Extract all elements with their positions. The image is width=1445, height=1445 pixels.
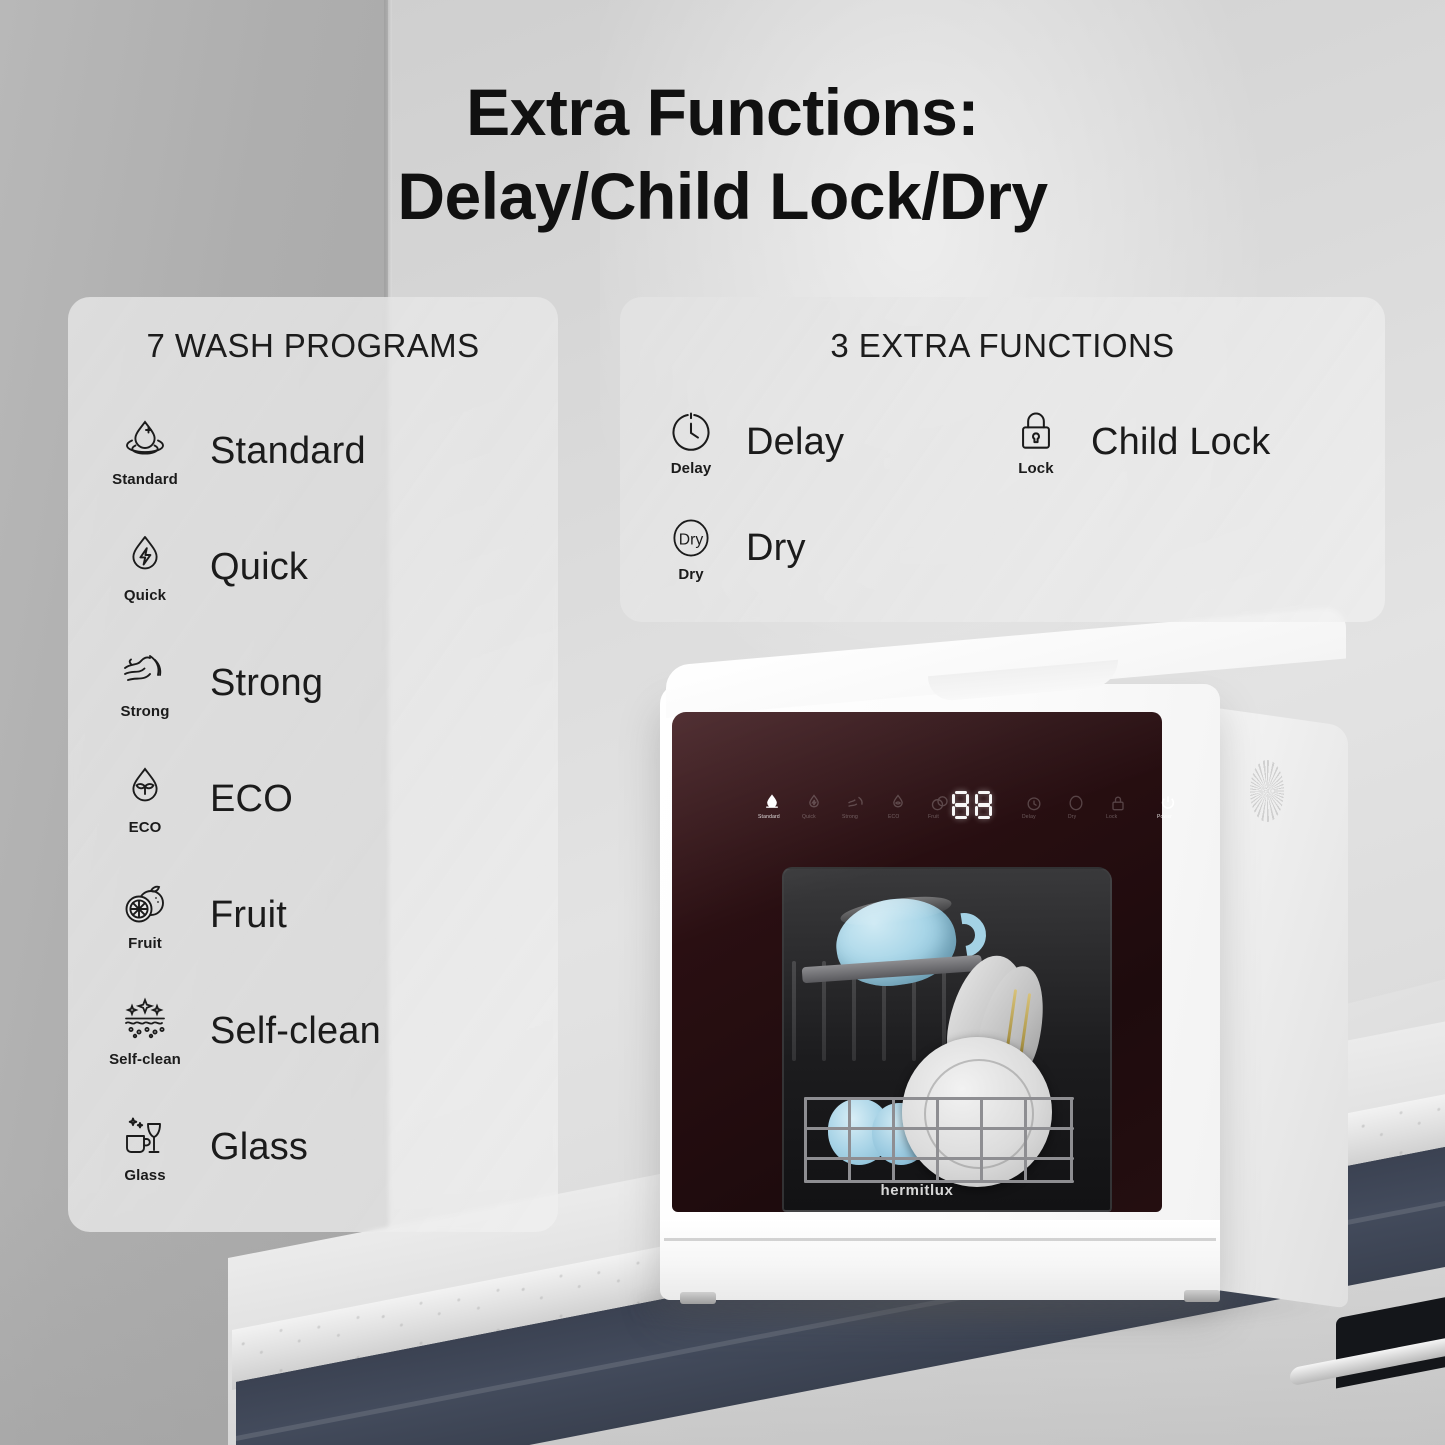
dry-label: Dry (746, 527, 806, 570)
extra-functions-panel: 3 EXTRA FUNCTIONS Delay Delay (620, 297, 1385, 622)
extra-functions-list: Delay Delay Lock Child Lock (620, 389, 1385, 601)
glass-icon-group: Glass (102, 1110, 188, 1184)
sparkle-surface-icon (119, 994, 171, 1046)
delay-caption: Delay (671, 460, 712, 477)
fruit-label: Fruit (210, 894, 287, 937)
wash-program-item-eco[interactable]: ECO ECO (102, 741, 558, 857)
delay-icon-group: Delay (652, 408, 730, 477)
wash-programs-list: Standard Standard Quick Quick (68, 393, 558, 1205)
strong-icon-group: Strong (102, 646, 188, 720)
glass-caption: Glass (124, 1167, 165, 1184)
page-title: Extra Functions: Delay/Child Lock/Dry (0, 70, 1445, 239)
strong-caption: Strong (121, 703, 170, 720)
eco-caption: ECO (129, 819, 162, 836)
self-clean-icon-group: Self-clean (102, 994, 188, 1068)
eco-icon-group: ECO (102, 762, 188, 836)
wash-program-item-fruit[interactable]: Fruit Fruit (102, 857, 558, 973)
extra-function-item-dry[interactable]: Dry Dry Dry (652, 495, 997, 601)
appliance-vent-icon (1250, 760, 1284, 822)
extra-functions-title: 3 EXTRA FUNCTIONS (620, 327, 1385, 365)
water-splash-wave-icon (119, 646, 171, 698)
child-lock-label: Child Lock (1091, 421, 1270, 464)
wash-programs-panel: 7 WASH PROGRAMS Standard Standard (68, 297, 558, 1232)
eco-label: ECO (210, 778, 293, 821)
glass-reflection (672, 712, 1162, 1212)
standard-label: Standard (210, 430, 366, 473)
wash-program-item-glass[interactable]: Glass Glass (102, 1089, 558, 1205)
child-lock-icon-group: Lock (997, 408, 1075, 477)
wash-program-item-self-clean[interactable]: Self-clean Self-clean (102, 973, 558, 1089)
citrus-fruit-icon (119, 878, 171, 930)
wash-program-item-strong[interactable]: Strong Strong (102, 625, 558, 741)
clock-icon (667, 408, 715, 456)
quick-icon-group: Quick (102, 530, 188, 604)
water-drop-leaf-icon (119, 762, 171, 814)
appliance-foot-right (1184, 1290, 1220, 1302)
standard-caption: Standard (112, 471, 178, 488)
appliance-base-seam (664, 1238, 1216, 1241)
dishwasher-product-image: Standard Quick Strong ECO (628, 660, 1368, 1340)
appliance-foot-left (680, 1292, 716, 1304)
standard-icon-group: Standard (102, 414, 188, 488)
fruit-icon-group: Fruit (102, 878, 188, 952)
self-clean-caption: Self-clean (109, 1051, 181, 1068)
water-drop-bolt-icon (119, 530, 171, 582)
appliance-base (660, 1220, 1220, 1300)
wash-program-item-standard[interactable]: Standard Standard (102, 393, 558, 509)
wash-programs-title: 7 WASH PROGRAMS (68, 327, 558, 365)
dry-circle-icon: Dry (667, 514, 715, 562)
fruit-caption: Fruit (128, 935, 162, 952)
page-title-line-1: Extra Functions: (0, 70, 1445, 154)
wash-program-item-quick[interactable]: Quick Quick (102, 509, 558, 625)
self-clean-label: Self-clean (210, 1010, 381, 1053)
glass-label: Glass (210, 1126, 308, 1169)
extra-function-item-delay[interactable]: Delay Delay (652, 389, 997, 495)
water-drop-ripple-icon (119, 414, 171, 466)
delay-label: Delay (746, 421, 844, 464)
dry-caption: Dry (678, 566, 703, 583)
extra-function-item-child-lock[interactable]: Lock Child Lock (997, 389, 1342, 495)
padlock-icon (1012, 408, 1060, 456)
child-lock-caption: Lock (1018, 460, 1053, 477)
quick-caption: Quick (124, 587, 166, 604)
page-title-line-2: Delay/Child Lock/Dry (0, 154, 1445, 238)
cup-wineglass-icon (119, 1110, 171, 1162)
strong-label: Strong (210, 662, 323, 705)
dry-icon-group: Dry Dry (652, 514, 730, 583)
svg-text:Dry: Dry (679, 531, 704, 548)
quick-label: Quick (210, 546, 308, 589)
